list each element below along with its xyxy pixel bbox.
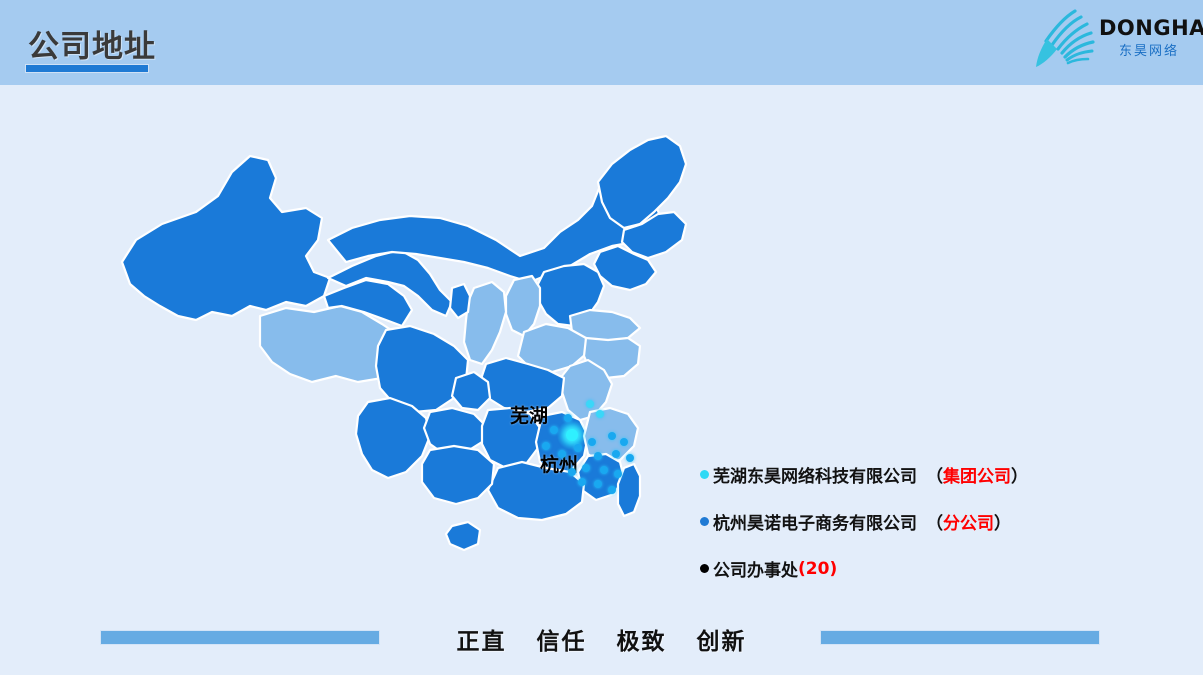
logo-text: DONGHAO 东昊网络	[1099, 18, 1199, 58]
slogan-word: 正直	[456, 629, 506, 655]
map-label-wuhu: 芜湖	[510, 401, 548, 428]
province-ningxia	[450, 284, 470, 318]
map-office-dot[interactable]	[568, 468, 576, 476]
footer-slogan: 正直 信任 极致 创新	[0, 622, 1203, 656]
donghao-feather-logo-icon	[1031, 8, 1101, 70]
province-hainan	[446, 522, 480, 550]
map-office-dot[interactable]	[596, 410, 604, 418]
slogan-word: 极致	[617, 629, 667, 655]
legend-note: 集团公司	[943, 462, 1011, 487]
map-office-dot[interactable]	[542, 442, 550, 450]
map-office-dot[interactable]	[614, 470, 622, 478]
legend-note: 20	[806, 559, 830, 579]
china-map-svg	[100, 120, 700, 600]
company-logo: DONGHAO 东昊网络	[1027, 6, 1197, 78]
legend-close-paren: )	[829, 559, 837, 579]
map-office-dot[interactable]	[612, 450, 620, 458]
legend-close-paren: ）	[994, 509, 1011, 534]
map-office-dot[interactable]	[578, 478, 586, 486]
legend-close-paren: ）	[1011, 462, 1028, 487]
province-guangxi	[422, 446, 494, 504]
legend-bullet-icon	[700, 517, 709, 526]
page-title: 公司地址	[28, 21, 156, 66]
title-underline	[25, 64, 149, 73]
logo-name: DONGHAO	[1099, 18, 1199, 39]
map-office-dot[interactable]	[608, 486, 616, 494]
map-office-dot[interactable]	[626, 454, 634, 462]
map-office-dot[interactable]	[574, 444, 582, 452]
legend-item-group-company: 芜湖东昊网络科技有限公司 （ 集团公司 ）	[700, 462, 1120, 487]
map-office-dot[interactable]	[564, 414, 572, 422]
slogan-word: 信任	[536, 629, 586, 655]
map-office-dot[interactable]	[594, 452, 602, 460]
slogan-word: 创新	[697, 629, 747, 655]
legend-label: 杭州昊诺电子商务有限公司	[713, 509, 917, 534]
legend-item-offices: 公司办事处 ( 20 )	[700, 556, 1120, 581]
map-office-dot[interactable]	[558, 450, 566, 458]
marker-core	[566, 429, 578, 441]
map-office-dot[interactable]	[550, 426, 558, 434]
map-marker-wuhu-headquarters[interactable]	[557, 420, 587, 450]
legend-open-paren: (	[798, 559, 806, 579]
map-office-dot[interactable]	[594, 480, 602, 488]
logo-subtitle: 东昊网络	[1099, 45, 1199, 58]
map-office-dot[interactable]	[588, 438, 596, 446]
legend-label: 芜湖东昊网络科技有限公司	[713, 462, 917, 487]
slide-root: 公司地址 DONGHAO	[0, 0, 1203, 675]
map-office-dot[interactable]	[582, 464, 590, 472]
map-office-dot[interactable]	[600, 466, 608, 474]
map-office-dot[interactable]	[608, 432, 616, 440]
legend-item-branch-company: 杭州昊诺电子商务有限公司 （ 分公司 ）	[700, 509, 1120, 534]
china-map-container: 芜湖 杭州	[100, 120, 700, 600]
legend-label: 公司办事处	[713, 556, 798, 581]
map-office-dot[interactable]	[586, 400, 594, 408]
legend-open-paren: （	[926, 509, 943, 534]
legend: 芜湖东昊网络科技有限公司 （ 集团公司 ） 杭州昊诺电子商务有限公司 （ 分公司…	[700, 462, 1120, 603]
legend-note: 分公司	[943, 509, 994, 534]
legend-bullet-icon	[700, 564, 709, 573]
slide-header: 公司地址 DONGHAO	[0, 0, 1203, 85]
province-xinjiang	[122, 156, 330, 320]
legend-bullet-icon	[700, 470, 709, 479]
map-office-dot[interactable]	[620, 438, 628, 446]
legend-open-paren: （	[926, 462, 943, 487]
